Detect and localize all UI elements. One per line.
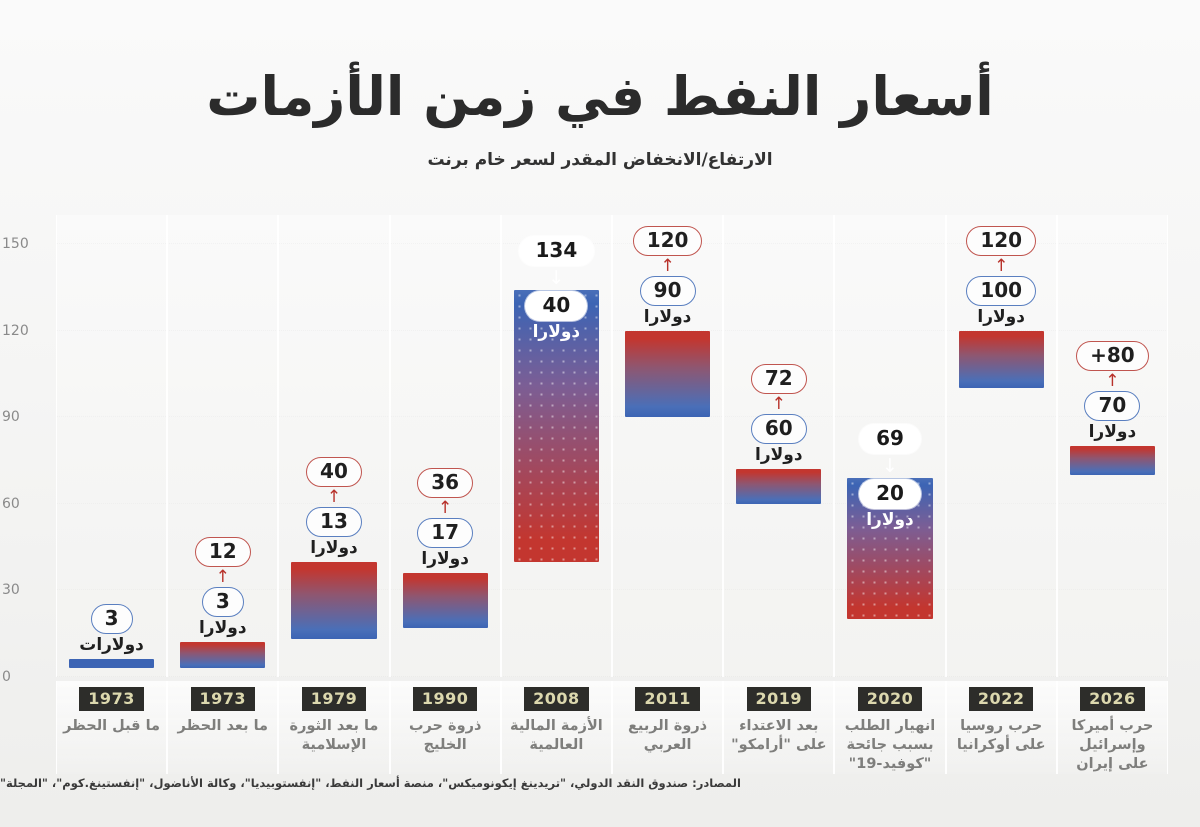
y-axis-tick-60: 60	[2, 496, 36, 512]
bar-1990-6[interactable]	[403, 573, 488, 628]
price-pill: 3	[91, 604, 133, 634]
bar-labels-outside-2019-3: 72↑60دولارا	[724, 364, 833, 465]
price-after-pill: 40	[525, 291, 587, 321]
y-axis-tick-90: 90	[2, 409, 36, 425]
event-label: ذروة الربيع العربي	[613, 717, 722, 755]
x-axis-cell-2026-0[interactable]: 2026حرب أميركا وإسرائيل على إيران	[1057, 681, 1168, 774]
price-after-pill: 36	[417, 468, 473, 498]
event-label: حرب أميركا وإسرائيل على إيران	[1058, 717, 1167, 774]
x-axis-cell-2022-1[interactable]: 2022حرب روسيا على أوكرانيا	[946, 681, 1057, 774]
bar-columns: +80↑70دولارا120↑100دولارا69↓20دولارا72↑6…	[56, 215, 1168, 677]
event-label: انهيار الطلب بسبب جائحة "كوفيد-19"	[835, 717, 944, 774]
arrow-down-icon: ↓	[502, 269, 611, 288]
currency-unit-label: دولارا	[1058, 422, 1167, 442]
price-before-pill: 100	[966, 276, 1036, 306]
price-after-pill: 40	[306, 457, 362, 487]
x-axis-cell-2019-3[interactable]: 2019بعد الاعتداء على "أرامكو"	[723, 681, 834, 774]
x-axis-cell-2008-5[interactable]: 2008الأزمة المالية العالمية	[501, 681, 612, 774]
event-label: ذروة حرب الخليج	[391, 717, 500, 755]
bar-gradient	[959, 331, 1044, 389]
arrow-up-icon: ↑	[168, 569, 277, 586]
x-axis-cell-1990-6[interactable]: 1990ذروة حرب الخليج	[390, 681, 501, 774]
currency-unit-label: دولارا	[613, 307, 722, 327]
bar-column-1973-8[interactable]: 12↑3دولارا	[167, 215, 278, 677]
event-label: حرب روسيا على أوكرانيا	[947, 717, 1056, 755]
bar-labels-outside-2026-0: +80↑70دولارا	[1058, 341, 1167, 442]
bar-column-1990-6[interactable]: 36↑17دولارا	[390, 215, 501, 677]
bar-1973-8[interactable]	[180, 642, 265, 668]
event-label: ما قبل الحظر	[57, 717, 166, 736]
sources-note: المصادر: صندوق النقد الدولي، "تريدينغ إي…	[0, 776, 1168, 790]
bar-column-1973-9[interactable]: 3دولارات	[56, 215, 167, 677]
bar-gradient	[1070, 446, 1155, 475]
price-before-pill: 90	[640, 276, 696, 306]
x-axis-cell-2020-2[interactable]: 2020انهيار الطلب بسبب جائحة "كوفيد-19"	[834, 681, 945, 774]
price-after-pill: 120	[966, 226, 1036, 256]
price-before-pill: 17	[417, 518, 473, 548]
bar-labels-inside-2020-2: 69↓20دولارا	[835, 424, 944, 530]
price-before-pill: 13	[306, 507, 362, 537]
year-badge: 1990	[413, 687, 478, 711]
currency-unit-label: دولارا	[391, 549, 500, 569]
bar-column-2011-4[interactable]: 120↑90دولارا	[612, 215, 723, 677]
x-axis-cell-1973-9[interactable]: 1973ما قبل الحظر	[56, 681, 167, 774]
year-badge: 2026	[1080, 687, 1145, 711]
bar-gradient	[736, 469, 821, 504]
plot-area: 0306090120150 +80↑70دولارا120↑100دولارا6…	[40, 215, 1168, 677]
x-axis-cell-1979-7[interactable]: 1979ما بعد الثورة الإسلامية	[278, 681, 389, 774]
arrow-up-icon: ↑	[391, 500, 500, 517]
year-badge: 2022	[969, 687, 1034, 711]
arrow-up-icon: ↑	[1058, 373, 1167, 390]
y-axis-tick-150: 150	[2, 236, 36, 252]
bar-gradient	[180, 642, 265, 668]
bar-gradient	[625, 331, 710, 418]
bar-labels-outside-1990-6: 36↑17دولارا	[391, 468, 500, 569]
price-before-pill: 134	[519, 236, 595, 266]
currency-unit-label: دولارا	[724, 445, 833, 465]
bar-gradient	[69, 659, 154, 668]
x-axis-cell-2011-4[interactable]: 2011ذروة الربيع العربي	[612, 681, 723, 774]
bar-labels-outside-1973-9: 3دولارات	[57, 604, 166, 655]
bar-2019-3[interactable]	[736, 469, 821, 504]
event-label: الأزمة المالية العالمية	[502, 717, 611, 755]
page-title: أسعار النفط في زمن الأزمات	[0, 66, 1200, 128]
bar-labels-outside-2011-4: 120↑90دولارا	[613, 226, 722, 327]
bar-2022-1[interactable]	[959, 331, 1044, 389]
year-badge: 1973	[79, 687, 144, 711]
bar-labels-outside-1979-7: 40↑13دولارا	[279, 457, 388, 558]
x-axis-labels: 2026حرب أميركا وإسرائيل على إيران2022حرب…	[56, 681, 1168, 774]
bar-column-2022-1[interactable]: 120↑100دولارا	[946, 215, 1057, 677]
y-axis-tick-120: 120	[2, 323, 36, 339]
chart-subtitle: الارتفاع/الانخفاض المقدر لسعر خام برنت	[0, 150, 1200, 170]
currency-unit-label: دولارا	[168, 618, 277, 638]
price-before-pill: 70	[1084, 391, 1140, 421]
price-before-pill: 69	[859, 424, 921, 454]
bar-1973-9[interactable]	[69, 659, 154, 668]
bar-gradient	[403, 573, 488, 628]
bar-labels-inside-2008-5: 134↓40دولارا	[502, 236, 611, 342]
year-badge: 2011	[635, 687, 700, 711]
currency-unit-label: دولارا	[835, 510, 944, 530]
price-before-pill: 60	[751, 414, 807, 444]
year-badge: 1973	[191, 687, 256, 711]
bar-2011-4[interactable]	[625, 331, 710, 418]
bar-1979-7[interactable]	[291, 562, 376, 640]
price-after-pill: 120	[633, 226, 703, 256]
bar-2026-0[interactable]	[1070, 446, 1155, 475]
event-label: ما بعد الحظر	[168, 717, 277, 736]
price-after-pill: 20	[859, 479, 921, 509]
arrow-down-icon: ↓	[835, 457, 944, 476]
y-axis-tick-0: 0	[2, 669, 36, 685]
price-after-pill: 12	[195, 537, 251, 567]
chart-header: أسعار النفط في زمن الأزمات الارتفاع/الان…	[0, 0, 1200, 170]
year-badge: 2008	[524, 687, 589, 711]
currency-unit-label: دولارا	[947, 307, 1056, 327]
event-label: بعد الاعتداء على "أرامكو"	[724, 717, 833, 755]
price-after-pill: +80	[1076, 341, 1149, 371]
year-badge: 2020	[858, 687, 923, 711]
bar-labels-outside-2022-1: 120↑100دولارا	[947, 226, 1056, 327]
bar-gradient	[291, 562, 376, 640]
bar-column-2019-3[interactable]: 72↑60دولارا	[723, 215, 834, 677]
bar-column-1979-7[interactable]: 40↑13دولارا	[278, 215, 389, 677]
currency-unit-label: دولارا	[502, 322, 611, 342]
arrow-up-icon: ↑	[613, 258, 722, 275]
bar-column-2020-2[interactable]: 69↓20دولارا	[834, 215, 945, 677]
y-axis-tick-30: 30	[2, 582, 36, 598]
year-badge: 1979	[302, 687, 367, 711]
currency-unit-label: دولارات	[57, 635, 166, 655]
price-after-pill: 72	[751, 364, 807, 394]
x-axis-cell-1973-8[interactable]: 1973ما بعد الحظر	[167, 681, 278, 774]
arrow-up-icon: ↑	[279, 489, 388, 506]
arrow-up-icon: ↑	[724, 396, 833, 413]
bar-labels-outside-1973-8: 12↑3دولارا	[168, 537, 277, 638]
currency-unit-label: دولارا	[279, 538, 388, 558]
infographic-page: أسعار النفط في زمن الأزمات الارتفاع/الان…	[0, 0, 1200, 827]
year-badge: 2019	[747, 687, 812, 711]
event-label: ما بعد الثورة الإسلامية	[279, 717, 388, 755]
bar-column-2008-5[interactable]: 134↓40دولارا	[501, 215, 612, 677]
arrow-up-icon: ↑	[947, 258, 1056, 275]
bar-column-2026-0[interactable]: +80↑70دولارا	[1057, 215, 1168, 677]
price-before-pill: 3	[202, 587, 244, 617]
